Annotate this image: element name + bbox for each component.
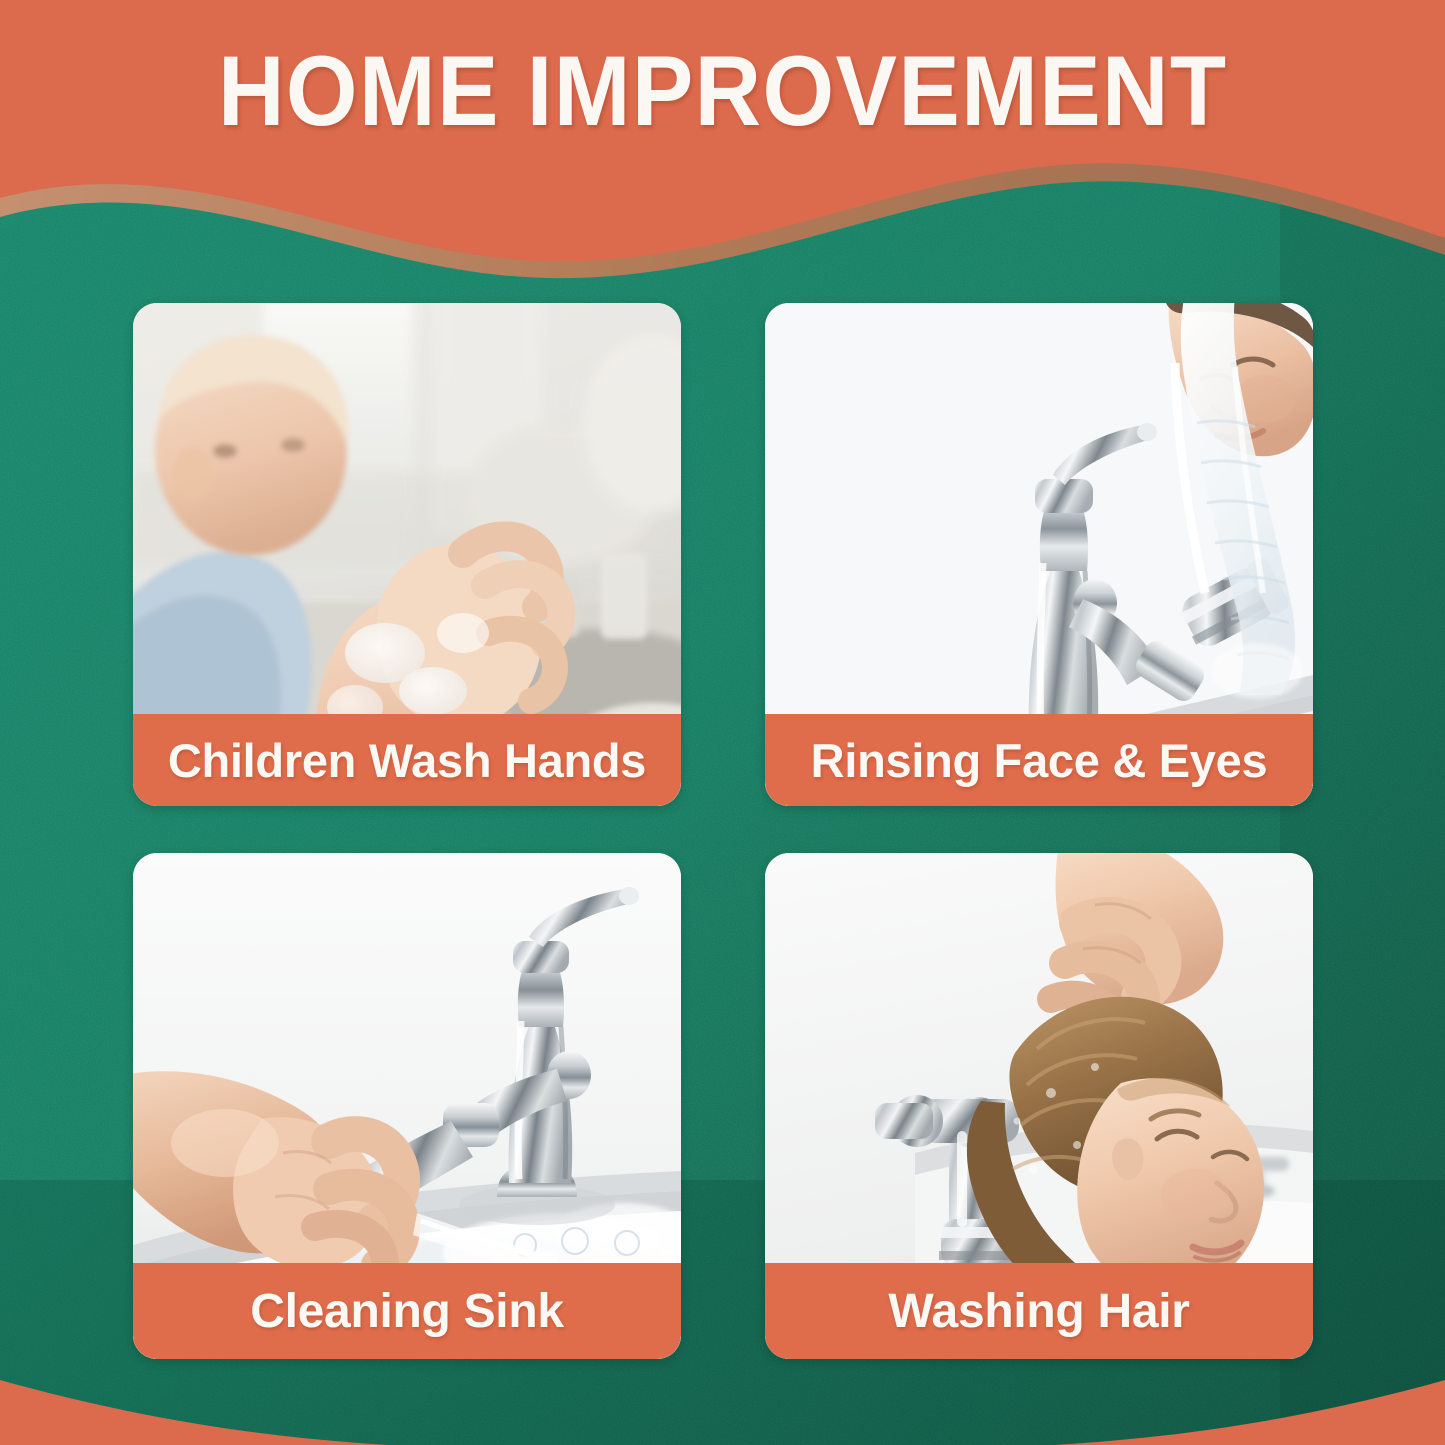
- card-children-wash-hands[interactable]: Children Wash Hands: [133, 303, 681, 806]
- scene-card-grid: Children Wash Hands: [133, 303, 1313, 1359]
- card-caption-children-wash-hands: Children Wash Hands: [133, 714, 681, 806]
- caption-label: Rinsing Face & Eyes: [811, 733, 1268, 788]
- card-caption-rinsing-face-eyes: Rinsing Face & Eyes: [765, 714, 1313, 806]
- card-caption-washing-hair: Washing Hair: [765, 1263, 1313, 1359]
- caption-label: Washing Hair: [888, 1284, 1189, 1339]
- caption-label: Cleaning Sink: [250, 1284, 564, 1339]
- caption-label: Children Wash Hands: [168, 733, 646, 788]
- header-banner: HOME IMPROVEMENT: [0, 0, 1445, 175]
- card-rinsing-face-eyes[interactable]: Rinsing Face & Eyes: [765, 303, 1313, 806]
- card-washing-hair[interactable]: Washing Hair: [765, 853, 1313, 1359]
- poster-root: HOME IMPROVEMENT: [0, 0, 1445, 1445]
- page-title: HOME IMPROVEMENT: [218, 41, 1228, 140]
- card-caption-cleaning-sink: Cleaning Sink: [133, 1263, 681, 1359]
- card-cleaning-sink[interactable]: Cleaning Sink: [133, 853, 681, 1359]
